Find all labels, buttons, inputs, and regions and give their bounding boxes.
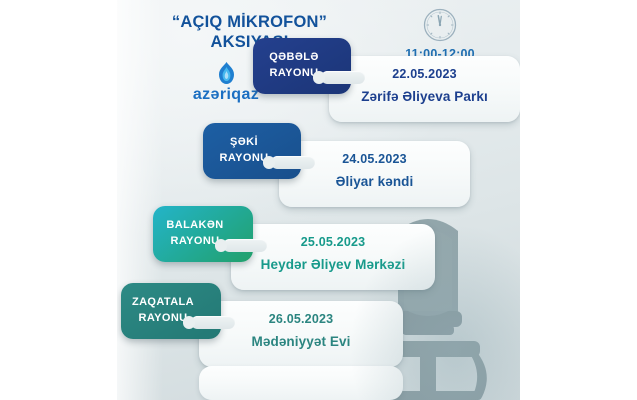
connector-notch <box>271 156 315 169</box>
event-place: Heydər Əliyev Mərkəzi <box>231 257 435 272</box>
connector-notch <box>321 71 365 84</box>
event-place: Zərifə Əliyeva Parkı <box>329 89 520 104</box>
district-name: ŞƏKİ <box>203 136 285 148</box>
district-tag: ŞƏKİ RAYONU <box>203 123 301 179</box>
poster-image: “AÇIQ MİKROFON” AKSIYASI azəriqaz <box>117 0 520 400</box>
title-line-1: “AÇIQ MİKROFON” <box>172 13 327 31</box>
event-row: 22.05.2023 Zərifə Əliyeva Parkı QƏBƏLƏ R… <box>117 38 520 130</box>
event-place: Mədəniyyət Evi <box>199 334 403 349</box>
district-tag: ZAQATALA RAYONU <box>121 283 221 339</box>
event-card: 22.05.2023 Zərifə Əliyeva Parkı <box>329 56 520 122</box>
event-card: 25.05.2023 Heydər Əliyev Mərkəzi <box>231 224 435 290</box>
event-row-partial <box>117 366 520 400</box>
clock-wrap <box>409 8 471 42</box>
event-row: 24.05.2023 Əliyar kəndi ŞƏKİ RAYONU <box>117 123 520 215</box>
connector-notch <box>191 316 235 329</box>
clock-icon <box>423 8 457 42</box>
event-card: 26.05.2023 Mədəniyyət Evi <box>199 301 403 367</box>
connector-notch <box>223 239 267 252</box>
event-row: 26.05.2023 Mədəniyyət Evi ZAQATALA RAYON… <box>117 283 520 375</box>
district-name: ZAQATALA <box>121 296 205 308</box>
event-place: Əliyar kəndi <box>279 174 470 189</box>
district-name: BALAKƏN <box>153 219 237 231</box>
district-tag: QƏBƏLƏ RAYONU <box>253 38 351 94</box>
event-card-partial <box>199 366 403 400</box>
district-name: QƏBƏLƏ <box>253 51 335 63</box>
event-card: 24.05.2023 Əliyar kəndi <box>279 141 470 207</box>
screenshot-canvas: “AÇIQ MİKROFON” AKSIYASI azəriqaz <box>0 0 637 400</box>
district-tag: BALAKƏN RAYONU <box>153 206 253 262</box>
